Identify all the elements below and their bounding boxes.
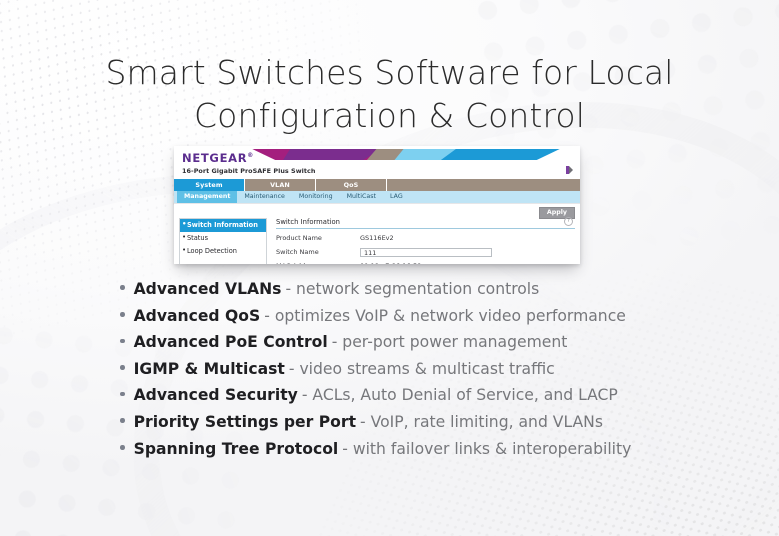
tab-qos[interactable]: QoS: [316, 179, 387, 191]
feature-list: Advanced VLANs - network segmentation co…: [120, 279, 720, 465]
field-label-mac-address: MAC Address: [276, 262, 360, 264]
field-label-product-name: Product Name: [276, 234, 360, 242]
list-item-term: Priority Settings per Port: [134, 412, 356, 433]
subtab-maintenance[interactable]: Maintenance: [237, 191, 292, 203]
subtab-management[interactable]: Management: [177, 191, 237, 203]
list-item-desc: - per-port power management: [332, 332, 568, 353]
trademark-symbol: ®: [247, 152, 254, 159]
subtab-monitoring[interactable]: Monitoring: [292, 191, 340, 203]
primary-tab-bar: System VLAN QoS: [174, 179, 580, 191]
bullet-dot-icon: [120, 339, 125, 344]
list-item: Advanced Security - ACLs, Auto Denial of…: [120, 385, 720, 406]
list-item-term: IGMP & Multicast: [134, 359, 285, 380]
list-item-desc: - video streams & multicast traffic: [289, 359, 555, 380]
list-item: Spanning Tree Protocol - with failover l…: [120, 439, 720, 460]
bullet-dot-icon: [120, 445, 125, 450]
switch-admin-ui: NETGEAR® 16-Port Gigabit ProSAFE Plus Sw…: [174, 146, 580, 264]
list-item-desc: - VoIP, rate limiting, and VLANs: [360, 412, 603, 433]
list-item-term: Advanced Security: [134, 385, 298, 406]
list-item-desc: - network segmentation controls: [285, 279, 539, 300]
switch-name-input[interactable]: 111: [360, 248, 492, 257]
list-item-term: Spanning Tree Protocol: [134, 439, 339, 460]
field-value-product-name: GS116Ev2: [360, 234, 394, 242]
logout-icon-arrow: [569, 166, 573, 174]
tab-bar-filler: [387, 179, 580, 191]
list-item: Advanced PoE Control - per-port power ma…: [120, 332, 720, 353]
list-item-desc: - with failover links & interoperability: [342, 439, 631, 460]
list-item-term: Advanced VLANs: [134, 279, 282, 300]
netgear-header: NETGEAR® 16-Port Gigabit ProSAFE Plus Sw…: [174, 146, 580, 179]
field-switch-name: Switch Name 111: [276, 247, 575, 257]
admin-sidebar: Switch Information Status Loop Detection: [179, 218, 267, 264]
section-title: Switch Information ?: [276, 218, 575, 229]
list-item-term: Advanced PoE Control: [134, 332, 328, 353]
sidebar-item-switch-information[interactable]: Switch Information: [180, 219, 266, 232]
field-mac-address: MAC Address 00-18-e7-86-16-58: [276, 261, 575, 264]
slide-content: Smart Switches Software for Local Config…: [0, 0, 779, 536]
bullet-dot-icon: [120, 312, 125, 317]
list-item: Advanced VLANs - network segmentation co…: [120, 279, 720, 300]
switch-admin-screenshot-card: NETGEAR® 16-Port Gigabit ProSAFE Plus Sw…: [174, 146, 580, 264]
apply-row: Apply: [174, 204, 580, 218]
admin-main-panel: Switch Information ? Product Name GS116E…: [267, 218, 575, 264]
list-item-term: Advanced QoS: [134, 306, 261, 327]
device-model-label: 16-Port Gigabit ProSAFE Plus Switch: [182, 167, 315, 175]
sidebar-item-status[interactable]: Status: [180, 232, 266, 245]
netgear-logo-text: NETGEAR: [182, 151, 247, 165]
list-item-desc: - ACLs, Auto Denial of Service, and LACP: [302, 385, 618, 406]
list-item: Priority Settings per Port - VoIP, rate …: [120, 412, 720, 433]
subtab-multicast[interactable]: MultiCast: [340, 191, 383, 203]
tab-vlan[interactable]: VLAN: [245, 179, 316, 191]
help-icon[interactable]: ?: [564, 217, 573, 226]
list-item: Advanced QoS - optimizes VoIP & network …: [120, 306, 720, 327]
list-item-desc: - optimizes VoIP & network video perform…: [264, 306, 626, 327]
subtab-lag[interactable]: LAG: [383, 191, 410, 203]
sidebar-item-loop-detection[interactable]: Loop Detection: [180, 245, 266, 258]
logout-icon[interactable]: [566, 166, 574, 174]
field-value-mac-address: 00-18-e7-86-16-58: [360, 262, 421, 264]
field-label-switch-name: Switch Name: [276, 248, 360, 256]
secondary-tab-bar: Management Maintenance Monitoring MultiC…: [174, 191, 580, 203]
admin-columns: Switch Information Status Loop Detection…: [174, 218, 580, 264]
admin-body: Apply Switch Information Status Loop Det…: [174, 203, 580, 264]
field-product-name: Product Name GS116Ev2: [276, 233, 575, 243]
list-item: IGMP & Multicast - video streams & multi…: [120, 359, 720, 380]
netgear-logo: NETGEAR®: [182, 151, 254, 165]
bullet-dot-icon: [120, 418, 125, 423]
page-title: Smart Switches Software for Local Config…: [0, 52, 779, 138]
bullet-dot-icon: [120, 365, 125, 370]
bullet-dot-icon: [120, 285, 125, 290]
section-title-text: Switch Information: [276, 218, 340, 226]
bullet-dot-icon: [120, 392, 125, 397]
tab-system[interactable]: System: [174, 179, 245, 191]
